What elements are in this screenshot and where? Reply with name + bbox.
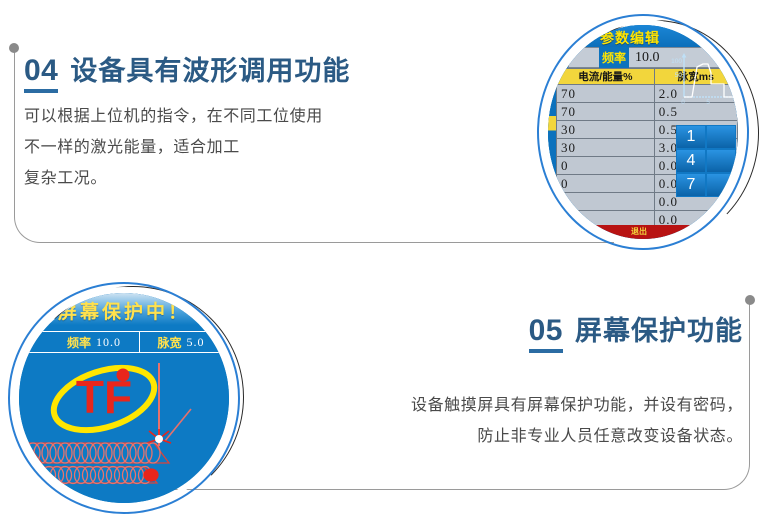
screen-saver-title: 屏幕保护中！: [19, 297, 229, 324]
waveform-chart: 100 50 0 5: [670, 51, 736, 109]
svg-text:5: 5: [706, 100, 710, 106]
keypad-key-8-partial[interactable]: [706, 173, 736, 197]
frequency-label: 频率: [67, 334, 91, 351]
parameter-editor-screen: 参数编辑 频率 10.0 电流/能量% 脉宽ms 702.0700.5300.5…: [548, 25, 738, 239]
cell-current[interactable]: [557, 193, 655, 211]
section-05-frame-dot: [745, 295, 755, 305]
section-04-heading: 04 设备具有波形调用功能: [24, 56, 350, 93]
tf-logo-and-welding-graphic: TF: [19, 351, 229, 503]
laser-beam-icon: [147, 363, 191, 446]
column-header-current: 电流/能量%: [557, 69, 655, 85]
keypad-key-4[interactable]: 4: [676, 149, 706, 173]
section-05-number: 05: [529, 316, 563, 353]
coil-workpiece-icon: [26, 443, 169, 484]
cell-current[interactable]: 70: [557, 85, 655, 103]
keypad-key-1[interactable]: 1: [676, 125, 706, 149]
section-05-body-line-2: 防止非专业人员任意改变设备状态。: [243, 421, 743, 452]
screen-saver-status-bar: 频率 10.0 脉宽 5.0: [19, 331, 229, 353]
keypad-key-2-partial[interactable]: [706, 125, 736, 149]
exit-button-label: 退出: [584, 225, 694, 239]
parameter-editor-ui: 参数编辑 频率 10.0 电流/能量% 脉宽ms 702.0700.5300.5…: [548, 25, 738, 239]
frequency-value: 10.0: [629, 50, 660, 66]
section-04-body-line-3: 复杂工况。: [24, 163, 444, 194]
pulsewidth-label: 脉宽: [158, 334, 182, 351]
cell-current[interactable]: 0: [557, 157, 655, 175]
section-05-body-line-1: 设备触摸屏具有屏幕保护功能，并设有密码，: [243, 390, 743, 421]
exit-button[interactable]: 退出: [584, 225, 694, 239]
section-05-body: 设备触摸屏具有屏幕保护功能，并设有密码， 防止非专业人员任意改变设备状态。: [243, 390, 743, 452]
numeric-keypad[interactable]: 1 4 7: [676, 125, 738, 211]
section-05-heading: 05 屏幕保护功能: [529, 316, 743, 353]
keypad-key-7[interactable]: 7: [676, 173, 706, 197]
waveform-chart-svg: 100 50 0 5: [670, 51, 736, 109]
screen-saver-ui: 屏幕保护中！ 频率 10.0 脉宽 5.0: [19, 293, 229, 503]
cell-current[interactable]: 30: [557, 121, 655, 139]
page-root: 04 设备具有波形调用功能 可以根据上位机的指令，在不同工位使用 不一样的激光能…: [0, 0, 765, 528]
screen-saver-screenshot: 屏幕保护中！ 频率 10.0 脉宽 5.0: [8, 282, 248, 528]
svg-text:0: 0: [681, 100, 685, 106]
svg-text:50: 50: [675, 72, 683, 79]
parameter-editor-title: 参数编辑: [600, 28, 660, 48]
tf-logo-text: TF: [76, 371, 132, 423]
parameter-editor-screenshot: 参数编辑 频率 10.0 电流/能量% 脉宽ms 702.0700.5300.5…: [537, 14, 765, 252]
svg-text:100: 100: [671, 58, 682, 65]
cell-current[interactable]: 30: [557, 139, 655, 157]
cell-current[interactable]: 0: [557, 175, 655, 193]
section-04-number: 04: [24, 56, 58, 93]
frequency-label: 频率: [599, 47, 629, 68]
section-04-body: 可以根据上位机的指令，在不同工位使用 不一样的激光能量，适合加工 复杂工况。: [24, 101, 444, 194]
section-04-body-line-2: 不一样的激光能量，适合加工: [24, 132, 444, 163]
cell-current[interactable]: 70: [557, 103, 655, 121]
section-04-body-line-1: 可以根据上位机的指令，在不同工位使用: [24, 101, 444, 132]
section-04-frame-dot: [9, 43, 19, 53]
screen-saver-artwork: TF: [19, 351, 229, 503]
frequency-value: 10.0: [96, 335, 121, 350]
screen-saver-screen: 屏幕保护中！ 频率 10.0 脉宽 5.0: [19, 293, 229, 503]
keypad-key-5-partial[interactable]: [706, 149, 736, 173]
section-05-title: 屏幕保护功能: [575, 318, 743, 345]
status-field-pulsewidth: 脉宽 5.0: [139, 332, 230, 352]
pulsewidth-value: 5.0: [187, 335, 205, 350]
section-04-title: 设备具有波形调用功能: [70, 58, 350, 85]
status-field-frequency: 频率 10.0: [19, 332, 139, 352]
